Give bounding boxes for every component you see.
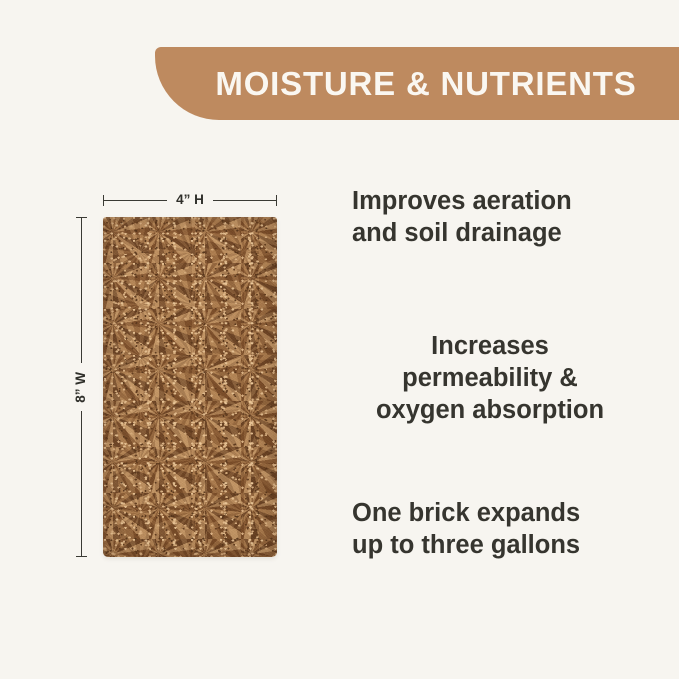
dimension-cap-right bbox=[276, 195, 277, 206]
dimension-horizontal-label: 4” H bbox=[167, 193, 213, 207]
dimension-vertical-label: 8” W bbox=[74, 363, 88, 412]
dimension-vertical: 8” W bbox=[71, 217, 91, 557]
benefit-2-line-1: Increases bbox=[330, 330, 650, 362]
header-banner: MOISTURE & NUTRIENTS bbox=[155, 47, 679, 120]
benefit-3-line-2: up to three gallons bbox=[352, 529, 650, 561]
dimension-cap-bottom bbox=[76, 556, 87, 557]
benefit-item-2: Increases permeability & oxygen absorpti… bbox=[330, 330, 650, 426]
benefit-item-3: One brick expands up to three gallons bbox=[330, 497, 650, 561]
infographic-canvas: MOISTURE & NUTRIENTS 4” H 8” W Improves … bbox=[0, 0, 679, 679]
dimension-rule-top bbox=[81, 218, 82, 363]
dimension-horizontal: 4” H bbox=[103, 190, 277, 210]
dimension-rule-bottom bbox=[81, 411, 82, 556]
benefit-2-line-3: oxygen absorption bbox=[330, 394, 650, 426]
benefit-3-line-1: One brick expands bbox=[352, 497, 650, 529]
dimension-rule-left bbox=[104, 200, 167, 201]
benefits-list: Improves aeration and soil drainage Incr… bbox=[330, 185, 650, 575]
dimension-rule-right bbox=[213, 200, 276, 201]
benefit-2-line-2: permeability & bbox=[330, 362, 650, 394]
benefit-1-line-2: and soil drainage bbox=[352, 217, 650, 249]
coir-brick-image bbox=[103, 217, 277, 557]
banner-title: MOISTURE & NUTRIENTS bbox=[215, 65, 636, 103]
benefit-item-1: Improves aeration and soil drainage bbox=[330, 185, 650, 249]
benefit-1-line-1: Improves aeration bbox=[352, 185, 650, 217]
